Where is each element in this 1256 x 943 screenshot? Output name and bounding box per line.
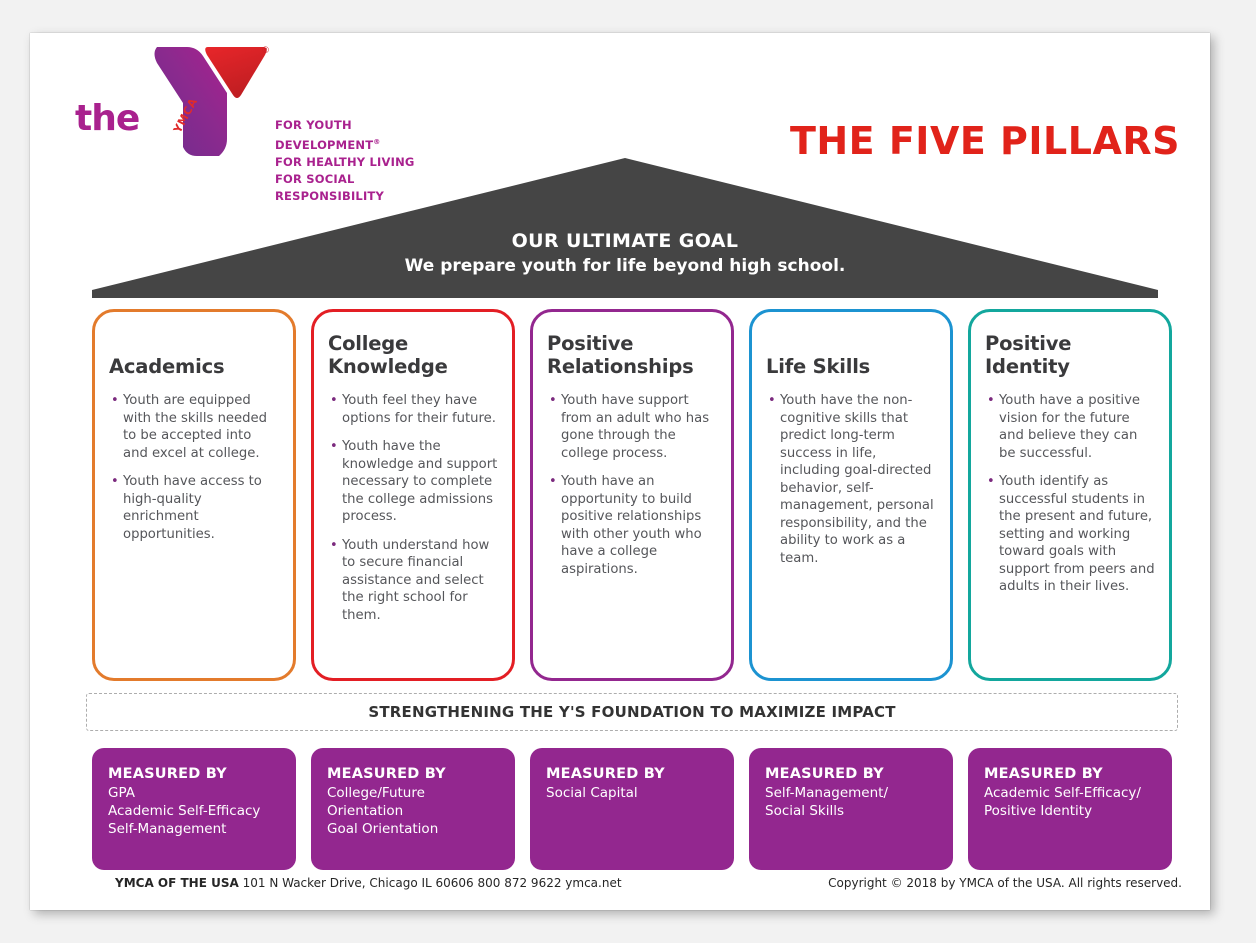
pillar-positive-relationships[interactable]: Positive Relationships • Youth have supp… — [530, 309, 734, 681]
measured-item: GPA — [108, 784, 282, 802]
pillar-bullets: • Youth feel they have options for their… — [328, 392, 498, 624]
pillar-college-knowledge[interactable]: College Knowledge • Youth feel they have… — [311, 309, 515, 681]
roof-banner: OUR ULTIMATE GOAL We prepare youth for l… — [92, 158, 1158, 298]
bullet-dot-icon: • — [109, 473, 123, 543]
foundation-text: STRENGTHENING THE Y'S FOUNDATION TO MAXI… — [368, 703, 895, 721]
measured-items: Self-Management/ Social Skills — [765, 784, 939, 820]
footer: YMCA OF THE USA 101 N Wacker Drive, Chic… — [30, 876, 1210, 896]
pillar-title-line1: Positive — [547, 332, 717, 355]
page-title: THE FIVE PILLARS — [790, 119, 1180, 163]
pillar-title-line2: Relationships — [547, 355, 717, 378]
measured-item: College/Future — [327, 784, 501, 802]
footer-org-name: YMCA OF THE USA — [115, 876, 239, 890]
pillar-academics[interactable]: Academics • Youth are equipped with the … — [92, 309, 296, 681]
header: the — [30, 33, 1210, 168]
footer-address: 101 N Wacker Drive, Chicago IL 60606 800… — [243, 876, 622, 890]
registered-trademark-icon: ® — [261, 46, 270, 56]
bullet-dot-icon: • — [985, 473, 999, 596]
bullet-dot-icon: • — [547, 473, 561, 578]
pillar-title-line1: Positive — [985, 332, 1155, 355]
bullet-dot-icon: • — [766, 392, 780, 567]
bullet-dot-icon: • — [328, 537, 342, 625]
footer-copyright: Copyright © 2018 by YMCA of the USA. All… — [828, 876, 1182, 890]
measured-box-positive-identity: MEASURED BY Academic Self-Efficacy/ Posi… — [968, 748, 1172, 870]
measured-box-life-skills: MEASURED BY Self-Management/ Social Skil… — [749, 748, 953, 870]
bullet-item: • Youth have support from an adult who h… — [547, 392, 717, 462]
logo-the-text: the — [75, 98, 139, 139]
bullet-item: • Youth have a positive vision for the f… — [985, 392, 1155, 462]
bullet-dot-icon: • — [547, 392, 561, 462]
measured-items: Social Capital — [546, 784, 720, 802]
bullet-item: • Youth have an opportunity to build pos… — [547, 473, 717, 578]
pillar-title: College Knowledge — [328, 332, 498, 378]
bullet-item: • Youth understand how to secure financi… — [328, 537, 498, 625]
measured-label: MEASURED BY — [765, 766, 939, 782]
bullet-item: • Youth have the knowledge and support n… — [328, 438, 498, 526]
measured-item: Self-Management/ — [765, 784, 939, 802]
measured-item: Self-Management — [108, 820, 282, 838]
pillar-title-line2: Identity — [985, 355, 1155, 378]
measured-by-row: MEASURED BY GPA Academic Self-Efficacy S… — [92, 748, 1172, 870]
roof-subtitle: We prepare youth for life beyond high sc… — [92, 256, 1158, 276]
pillar-title: Positive Relationships — [547, 332, 717, 378]
bullet-item: • Youth feel they have options for their… — [328, 392, 498, 427]
measured-label: MEASURED BY — [546, 766, 720, 782]
measured-item: Orientation — [327, 802, 501, 820]
pillar-title: Academics — [109, 332, 279, 378]
bullet-dot-icon: • — [328, 392, 342, 427]
bullet-item: • Youth have the non-cognitive skills th… — [766, 392, 936, 567]
roof-title: OUR ULTIMATE GOAL — [92, 230, 1158, 252]
bullet-dot-icon: • — [328, 438, 342, 526]
roof-text: OUR ULTIMATE GOAL We prepare youth for l… — [92, 230, 1158, 276]
bullet-item: • Youth are equipped with the skills nee… — [109, 392, 279, 462]
pillar-bullets: • Youth are equipped with the skills nee… — [109, 392, 279, 543]
measured-label: MEASURED BY — [108, 766, 282, 782]
bullet-dot-icon: • — [985, 392, 999, 462]
pillar-title: Positive Identity — [985, 332, 1155, 378]
measured-item: Social Skills — [765, 802, 939, 820]
pillar-life-skills[interactable]: Life Skills • Youth have the non-cogniti… — [749, 309, 953, 681]
pillar-bullets: • Youth have a positive vision for the f… — [985, 392, 1155, 596]
measured-items: College/Future Orientation Goal Orientat… — [327, 784, 501, 838]
foundation-bar: STRENGTHENING THE Y'S FOUNDATION TO MAXI… — [86, 693, 1178, 731]
measured-item: Social Capital — [546, 784, 720, 802]
pillars-row: Academics • Youth are equipped with the … — [92, 309, 1172, 681]
pillar-bullets: • Youth have the non-cognitive skills th… — [766, 392, 936, 567]
measured-label: MEASURED BY — [327, 766, 501, 782]
roof-triangle-icon — [92, 158, 1158, 298]
ymca-logo: the — [75, 43, 455, 168]
measured-item: Academic Self-Efficacy — [108, 802, 282, 820]
measured-items: Academic Self-Efficacy/ Positive Identit… — [984, 784, 1158, 820]
pillar-title-line2: Knowledge — [328, 355, 498, 378]
y-mark-icon — [153, 43, 269, 165]
pillar-bullets: • Youth have support from an adult who h… — [547, 392, 717, 578]
measured-box-academics: MEASURED BY GPA Academic Self-Efficacy S… — [92, 748, 296, 870]
bullet-item: • Youth identify as successful students … — [985, 473, 1155, 596]
measured-box-college-knowledge: MEASURED BY College/Future Orientation G… — [311, 748, 515, 870]
pillar-title-line1: College — [328, 332, 498, 355]
pillar-title: Life Skills — [766, 332, 936, 378]
bullet-item: • Youth have access to high-quality enri… — [109, 473, 279, 543]
footer-org-address: YMCA OF THE USA 101 N Wacker Drive, Chic… — [115, 876, 622, 890]
measured-items: GPA Academic Self-Efficacy Self-Manageme… — [108, 784, 282, 838]
tagline-1: FOR YOUTH DEVELOPMENT® — [275, 117, 455, 154]
pillar-positive-identity[interactable]: Positive Identity • Youth have a positiv… — [968, 309, 1172, 681]
measured-box-positive-relationships: MEASURED BY Social Capital — [530, 748, 734, 870]
poster-page: the — [30, 33, 1210, 910]
measured-label: MEASURED BY — [984, 766, 1158, 782]
measured-item: Goal Orientation — [327, 820, 501, 838]
measured-item: Positive Identity — [984, 802, 1158, 820]
measured-item: Academic Self-Efficacy/ — [984, 784, 1158, 802]
bullet-dot-icon: • — [109, 392, 123, 462]
